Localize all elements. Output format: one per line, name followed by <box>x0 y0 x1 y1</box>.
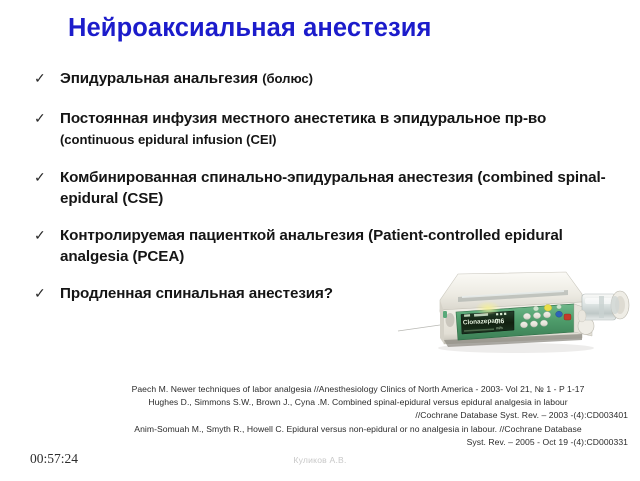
list-item-text-ru: Постоянная инфузия местного анестетика в… <box>60 110 546 127</box>
syringe-infusion-pump-image: Clonazepam 0.6 ml/h <box>396 252 640 362</box>
syringe-flange-shadow <box>611 296 620 314</box>
keypad-button-down[interactable] <box>520 322 527 328</box>
citation-line: Paech M. Newer techniques of labor analg… <box>88 383 628 396</box>
list-item-text-ru: Комбинированная спинально-эпидуральная а… <box>60 169 473 186</box>
barrel-retainer <box>578 310 586 322</box>
lcd-dot-1 <box>496 313 498 315</box>
list-item-text-ru: Эпидуральная анальгезия <box>60 70 258 87</box>
left-status-indicator <box>443 311 447 318</box>
checkmark-icon: ✓ <box>34 283 46 304</box>
lcd-rate-unit: ml/h <box>496 326 503 330</box>
citation-block: Paech M. Newer techniques of labor analg… <box>88 383 628 449</box>
slide-canvas: Нейроаксиальная анестезия ✓ Эпидуральная… <box>0 0 640 481</box>
keypad-button-bolus[interactable] <box>530 321 537 327</box>
lcd-dot-3 <box>504 313 506 315</box>
list-item-text-en: (болюс) <box>262 71 313 86</box>
author-watermark: Куликов А.В. <box>0 455 640 465</box>
keypad-button-small-grey[interactable] <box>533 306 538 311</box>
syringe-plunger-rod <box>599 296 604 318</box>
lcd-status-icon <box>464 314 470 317</box>
list-item-text-ru: Продленная спинальная анестезия? <box>60 285 333 302</box>
citation-line: //Cochrane Database Syst. Rev. – 2003 -(… <box>88 409 628 422</box>
syringe-infusion-pump-illustration: Clonazepam 0.6 ml/h <box>396 252 640 362</box>
list-item-text: Постоянная инфузия местного анестетика в… <box>60 110 546 148</box>
list-item-text: Комбинированная спинально-эпидуральная а… <box>60 169 606 207</box>
iv-tubing <box>398 325 440 331</box>
citation-line: Anim-Somuah M., Smyth R., Howell C. Epid… <box>88 423 628 436</box>
keypad-button-clear[interactable] <box>540 320 547 326</box>
checkmark-icon: ✓ <box>34 225 46 246</box>
panel-glow-highlight <box>475 301 501 315</box>
checkmark-icon: ✓ <box>34 68 46 89</box>
keypad-button-standby-yellow[interactable] <box>544 305 552 312</box>
keypad-button-select[interactable] <box>543 312 550 318</box>
keypad-button-power-blue[interactable] <box>556 311 563 317</box>
pump-shadow <box>438 343 594 353</box>
list-item: ✓ Комбинированная спинально-эпидуральная… <box>30 167 620 209</box>
lcd-rate-value: 0.6 <box>495 318 505 326</box>
list-item-text-en: (continuous epidural infusion (CEI) <box>60 132 276 147</box>
citation-line: Hughes D., Simmons S.W., Brown J., Cyna … <box>88 396 628 409</box>
list-item-text-ru: Контролируемая пациенткой анальгезия <box>60 227 364 244</box>
keypad-button-small-grey-2[interactable] <box>557 305 562 309</box>
page-title: Нейроаксиальная анестезия <box>68 14 588 43</box>
list-item-text: Эпидуральная анальгезия (болюс) <box>60 70 313 87</box>
citation-line: Syst. Rev. – 2005 - Oct 19 -(4):CD000331 <box>88 436 628 449</box>
checkmark-icon: ✓ <box>34 108 46 129</box>
checkmark-icon: ✓ <box>34 167 46 188</box>
list-item: ✓ Постоянная инфузия местного анестетика… <box>30 108 620 150</box>
keypad-button-menu[interactable] <box>533 313 540 319</box>
lcd-dot-2 <box>500 313 502 315</box>
keypad-button-up[interactable] <box>523 313 530 319</box>
keypad-button-stop-red[interactable] <box>564 314 571 320</box>
list-item: ✓ Эпидуральная анальгезия (болюс) <box>30 68 620 89</box>
list-item-text: Продленная спинальная анестезия? <box>60 285 333 302</box>
